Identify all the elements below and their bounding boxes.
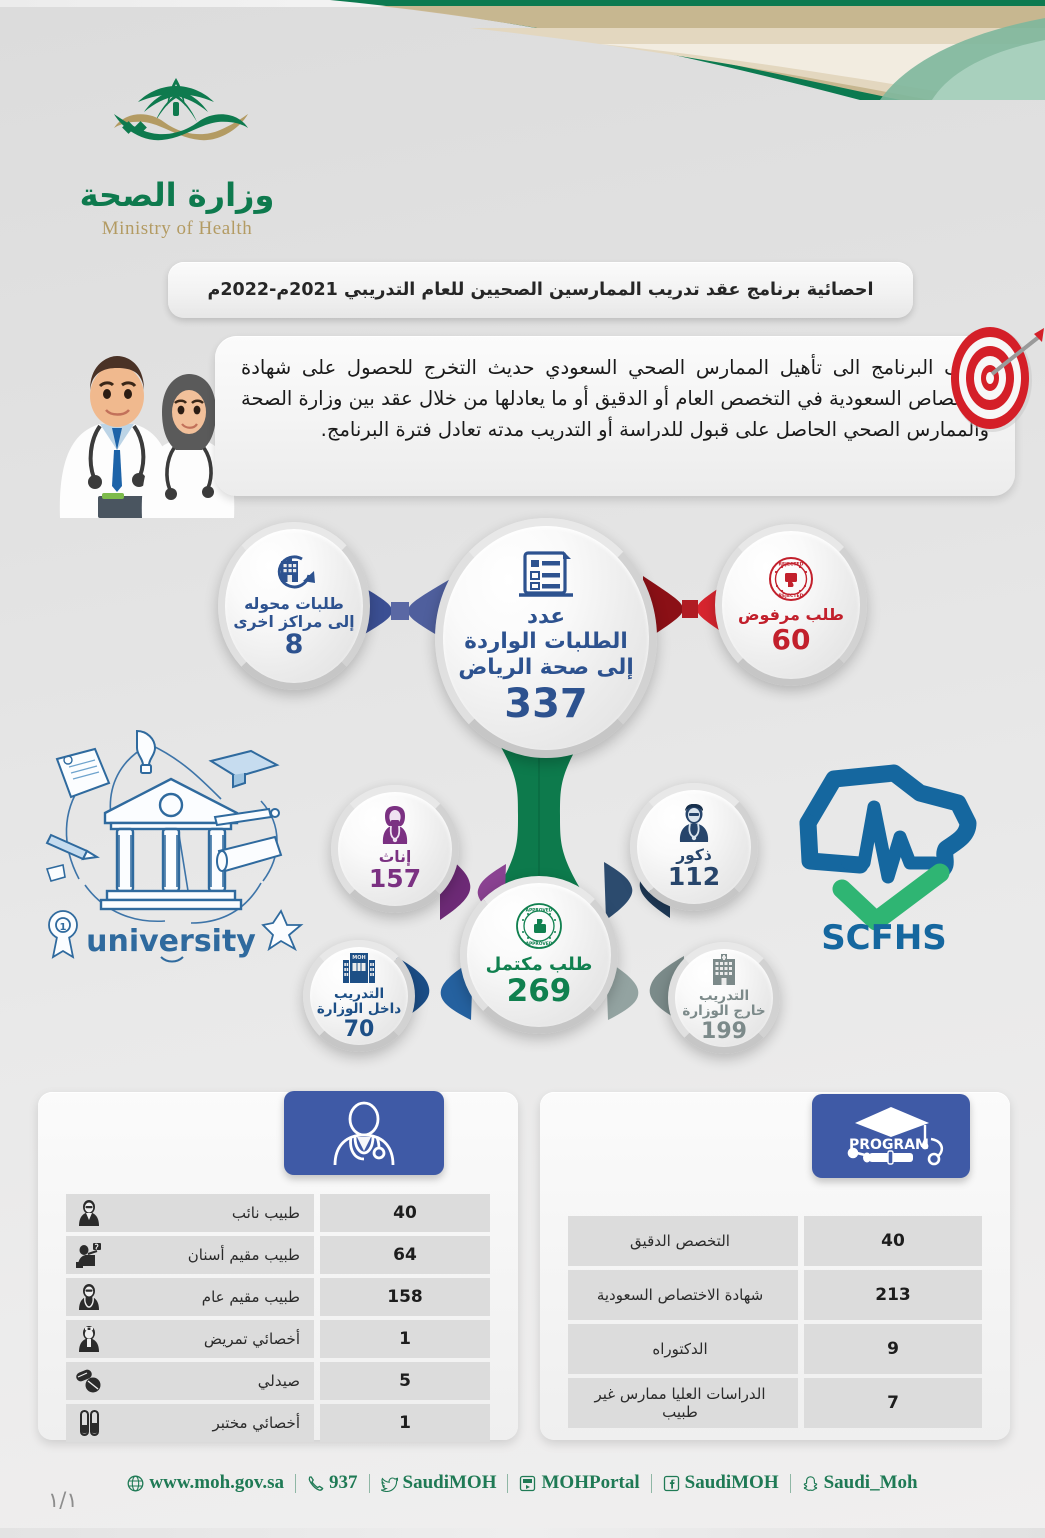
row-label-cell: أخصائي مختبر [66, 1404, 314, 1442]
footer-phone[interactable]: 937 [296, 1472, 369, 1494]
facebook-icon [663, 1475, 680, 1492]
snapchat-icon [802, 1475, 819, 1492]
programs-rows: 40 التخصص الدقيق 213 شهادة الاختصاص السع… [540, 1216, 1010, 1432]
row-label: أخصائي مختبر [112, 1414, 300, 1432]
circle-main-label-2: الطلبات الواردة [464, 629, 628, 654]
row-value: 64 [320, 1236, 490, 1274]
page-number: ١/١ [48, 1488, 78, 1512]
row-value: 40 [320, 1194, 490, 1232]
circle-main-label-3: إلى صحة الرياض [458, 655, 633, 680]
table-row: 158 طبيب مقيم عام [66, 1278, 490, 1316]
phone-icon [307, 1475, 324, 1492]
program-description: يهدف البرنامج الى تأهيل الممارس الصحي ال… [241, 352, 989, 445]
footer-snapchat[interactable]: Saudi_Moh [791, 1472, 929, 1494]
row-value: 213 [804, 1270, 982, 1320]
resident-doctor-icon [74, 1200, 104, 1226]
row-label: صيدلي [112, 1372, 300, 1390]
table-row: 1 أخصائي تمريض [66, 1320, 490, 1358]
footer-twitter-text: SaudiMOH [403, 1472, 497, 1494]
table-row: 40 التخصص الدقيق [568, 1216, 982, 1266]
footer-contact-bar: www.moh.gov.sa 937 SaudiMOH MOHPortal [0, 1466, 1045, 1500]
circle-inside-label-2: داخل الوزارة [317, 1002, 401, 1018]
footer-twitter[interactable]: SaudiMOH [370, 1472, 508, 1494]
row-label: الدراسات العليا ممارس غير طبيب [576, 1385, 784, 1421]
row-value: 158 [320, 1278, 490, 1316]
infographic-page: وزارة الصحة Ministry of Health [0, 0, 1045, 1538]
bottom-divider-rule [0, 1528, 1045, 1538]
circle-inside-ministry[interactable]: MOH التدريب داخل الوزارة 70 [303, 940, 415, 1052]
row-value: 9 [804, 1324, 982, 1374]
row-label-cell: شهادة الاختصاص السعودية [568, 1270, 798, 1320]
circle-rejected-requests[interactable]: REJECTED REJECTED طلب مرفوض 60 [715, 524, 867, 686]
nurse-icon [74, 1326, 104, 1352]
table-row: 1 أخصائي مختبر [66, 1404, 490, 1442]
row-label-cell: طبيب نائب [66, 1194, 314, 1232]
table-row: 9 الدكتوراه [568, 1324, 982, 1374]
row-value: 5 [320, 1362, 490, 1400]
circle-females-value: 157 [369, 866, 421, 892]
row-value: 40 [804, 1216, 982, 1266]
moh-building-icon: MOH [339, 951, 379, 987]
form-document-icon [517, 551, 575, 603]
graduation-program-icon: PROGRAM [812, 1094, 970, 1178]
footer-website-text: www.moh.gov.sa [149, 1472, 284, 1494]
circle-rejected-value: 60 [772, 625, 811, 654]
row-label: طبيب مقيم أسنان [112, 1246, 300, 1264]
row-label: طبيب مقيم عام [112, 1288, 300, 1306]
pills-icon [74, 1369, 104, 1393]
practitioners-card: 40 طبيب نائب 64 [38, 1092, 518, 1440]
circle-incoming-requests[interactable]: عدد الطلبات الواردة إلى صحة الرياض 337 [435, 518, 657, 758]
row-value: 7 [804, 1378, 982, 1428]
scfhs-logo: SCFHS [782, 745, 987, 955]
test-tubes-icon [74, 1410, 104, 1436]
row-label-cell: الدكتوراه [568, 1324, 798, 1374]
row-label-cell: التخصص الدقيق [568, 1216, 798, 1266]
circle-rejected-label: طلب مرفوض [738, 606, 844, 625]
circle-outside-label-2: خارج الوزارة [682, 1004, 765, 1020]
male-doctor-icon [676, 804, 712, 846]
circle-outside-ministry[interactable]: التدريب خارج الوزارة 199 [668, 942, 780, 1054]
row-label-cell: صيدلي [66, 1362, 314, 1400]
moh-logo-english: Ministry of Health [52, 218, 302, 240]
footer-facebook-text: SaudiMOH [685, 1472, 779, 1494]
table-row: 7 الدراسات العليا ممارس غير طبيب [568, 1378, 982, 1428]
row-value: 1 [320, 1320, 490, 1358]
circle-males-value: 112 [668, 864, 720, 890]
page-title: احصائية برنامج عقد تدريب الممارسين الصحي… [208, 280, 874, 300]
circle-outside-value: 199 [701, 1020, 747, 1043]
doctor-badge-icon [284, 1091, 444, 1175]
table-row: 213 شهادة الاختصاص السعودية [568, 1270, 982, 1320]
youtube-icon [519, 1475, 536, 1492]
general-doctor-icon [74, 1284, 104, 1310]
table-row: 5 صيدلي [66, 1362, 490, 1400]
practitioners-rows: 40 طبيب نائب 64 [38, 1194, 518, 1446]
footer-phone-text: 937 [329, 1472, 358, 1494]
row-value: 1 [320, 1404, 490, 1442]
circle-inside-label-1: التدريب [334, 987, 384, 1003]
circle-females[interactable]: إناث 157 [331, 785, 459, 913]
circle-completed-value: 269 [507, 975, 572, 1008]
hospital-transfer-icon [272, 553, 316, 595]
approved-stamp-icon: APPROVED APPROVED [515, 902, 563, 954]
table-row: 64 طبيب مقيم أسنان [66, 1236, 490, 1274]
circle-transferred-requests[interactable]: طلبات محوله إلى مراكز اخرى 8 [218, 522, 370, 690]
moh-logo-arabic: وزارة الصحة [52, 176, 302, 214]
row-label: شهادة الاختصاص السعودية [576, 1286, 784, 1304]
row-label-cell: الدراسات العليا ممارس غير طبيب [568, 1378, 798, 1428]
row-label: الدكتوراه [576, 1340, 784, 1358]
title-banner: احصائية برنامج عقد تدريب الممارسين الصحي… [168, 262, 913, 318]
moh-logo: وزارة الصحة Ministry of Health [52, 72, 302, 242]
globe-icon [127, 1475, 144, 1492]
row-label: التخصص الدقيق [576, 1232, 784, 1250]
svg-text:MOH: MOH [352, 955, 365, 961]
circle-main-label-1: عدد [527, 604, 565, 629]
two-doctors-illustration [38, 300, 243, 518]
table-row: 40 طبيب نائب [66, 1194, 490, 1232]
circle-inside-value: 70 [344, 1018, 375, 1041]
row-label-cell: طبيب مقيم أسنان [66, 1236, 314, 1274]
row-label-cell: أخصائي تمريض [66, 1320, 314, 1358]
twitter-icon [381, 1475, 398, 1492]
footer-youtube[interactable]: MOHPortal [508, 1472, 650, 1494]
footer-website[interactable]: www.moh.gov.sa [116, 1472, 295, 1494]
description-panel: يهدف البرنامج الى تأهيل الممارس الصحي ال… [215, 336, 1015, 496]
svg-text:REJECTED: REJECTED [779, 593, 804, 599]
row-label: أخصائي تمريض [112, 1330, 300, 1348]
row-label-cell: طبيب مقيم عام [66, 1278, 314, 1316]
dentist-icon [74, 1242, 104, 1268]
university-label: university [86, 924, 256, 959]
footer-facebook[interactable]: SaudiMOH [652, 1472, 790, 1494]
rejected-stamp-icon: REJECTED REJECTED [768, 556, 814, 606]
circle-outside-label-1: التدريب [699, 989, 749, 1005]
university-illustration: 1 university [25, 725, 315, 975]
svg-text:APPROVED: APPROVED [526, 941, 553, 947]
circle-transferred-label-1: طلبات محوله [244, 595, 344, 613]
hospital-building-icon [705, 953, 743, 989]
footer-youtube-text: MOHPortal [541, 1472, 639, 1494]
row-label: طبيب نائب [112, 1204, 300, 1222]
scfhs-label: SCFHS [821, 918, 947, 955]
female-doctor-icon [377, 806, 413, 848]
circle-males[interactable]: ذكور 112 [630, 783, 758, 911]
circle-main-value: 337 [504, 683, 588, 725]
circle-completed-requests[interactable]: APPROVED APPROVED طلب مكتمل 269 [460, 876, 618, 1034]
footer-snapchat-text: Saudi_Moh [824, 1472, 918, 1494]
programs-card: PROGRAM 40 التخصص الدقيق [540, 1092, 1010, 1440]
circle-completed-label: طلب مكتمل [486, 954, 593, 975]
svg-text:1: 1 [60, 922, 67, 933]
dart-target-illustration [948, 312, 1044, 438]
circle-transferred-value: 8 [285, 631, 304, 659]
moh-logo-mark [52, 72, 302, 176]
svg-text:APPROVED: APPROVED [526, 908, 553, 914]
